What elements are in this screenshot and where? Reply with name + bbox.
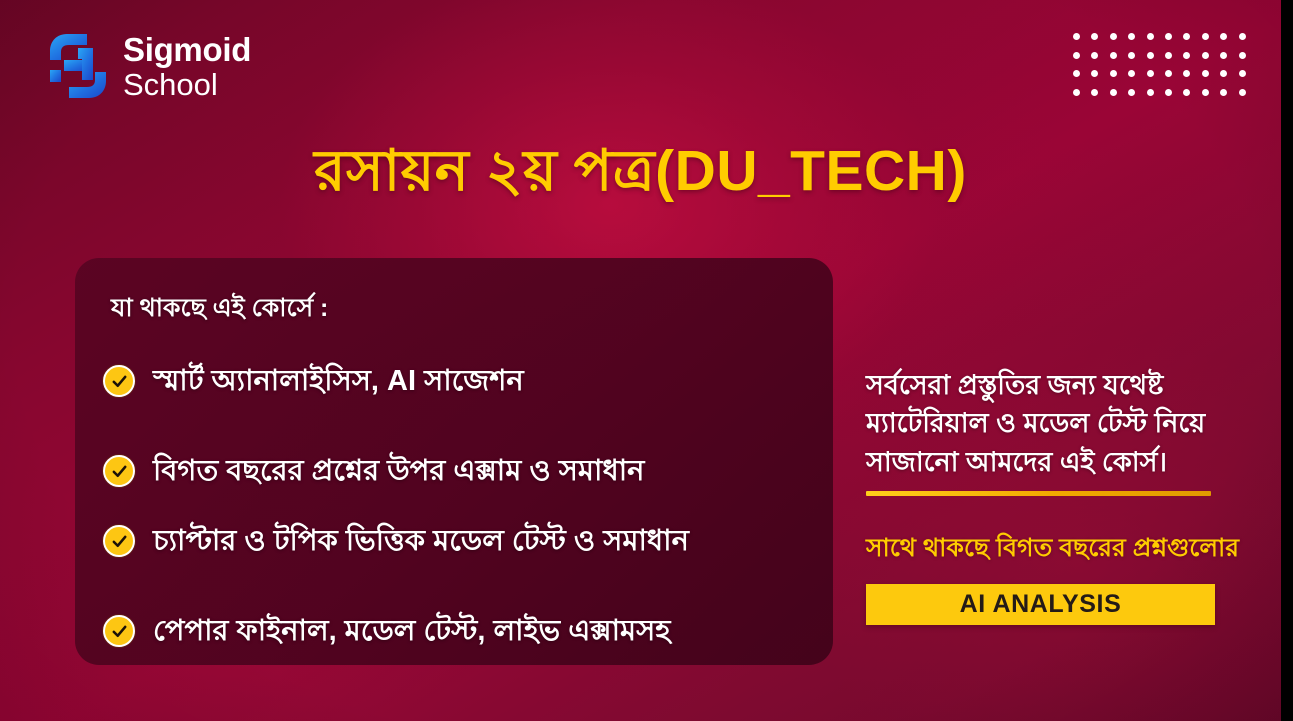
grid-dot: [1073, 89, 1080, 96]
grid-dot: [1073, 70, 1080, 77]
list-item: বিগত বছরের প্রশ্নের উপর এক্সাম ও সমাধান: [103, 443, 805, 499]
grid-dot: [1183, 33, 1190, 40]
grid-dot: [1239, 52, 1246, 59]
grid-dot: [1239, 33, 1246, 40]
grid-dot: [1220, 70, 1227, 77]
grid-dot: [1202, 89, 1209, 96]
banner-canvas: Sigmoid School রসায়ন ২য় পত্র(DU_TECH) …: [0, 0, 1281, 721]
brand-name: Sigmoid School: [123, 33, 251, 100]
feature-card: যা থাকছে এই কোর্সে : স্মার্ট অ্যানালাইসি…: [75, 258, 833, 665]
list-item: স্মার্ট অ্যানালাইসিস, AI সাজেশন: [103, 353, 805, 409]
grid-dot: [1220, 52, 1227, 59]
grid-dot: [1110, 70, 1117, 77]
grid-dot: [1128, 89, 1135, 96]
gold-divider: [866, 491, 1211, 496]
promo-panel: সর্বসেরা প্রস্তুতির জন্য যথেষ্ট ম্যাটেরি…: [866, 366, 1266, 625]
ai-analysis-badge[interactable]: AI ANALYSIS: [866, 584, 1215, 625]
check-icon: [103, 365, 135, 397]
feature-label: চ্যাপ্টার ও টপিক ভিত্তিক মডেল টেস্ট ও সম…: [153, 523, 689, 559]
check-icon: [103, 525, 135, 557]
grid-dot: [1091, 70, 1098, 77]
brand-logo[interactable]: Sigmoid School: [47, 30, 251, 102]
grid-dot: [1128, 70, 1135, 77]
grid-dot: [1220, 33, 1227, 40]
check-icon: [103, 615, 135, 647]
grid-dot: [1202, 33, 1209, 40]
grid-dot: [1220, 89, 1227, 96]
right-edge-strip: [1281, 0, 1293, 721]
grid-dot: [1091, 33, 1098, 40]
promo-paragraph-line3: সাজানো আমদের এই কোর্স।: [866, 443, 1266, 481]
promo-subline: সাথে থাকছে বিগত বছরের প্রশ্নগুলোর: [866, 528, 1266, 571]
feature-label: বিগত বছরের প্রশ্নের উপর এক্সাম ও সমাধান: [153, 453, 644, 489]
feature-label: স্মার্ট অ্যানালাইসিস, AI সাজেশন: [153, 363, 524, 399]
dot-grid-pattern: [1073, 33, 1257, 108]
grid-dot: [1202, 70, 1209, 77]
ai-analysis-label: AI ANALYSIS: [960, 590, 1122, 619]
grid-dot: [1239, 70, 1246, 77]
promo-paragraph-line2: ম্যাটেরিয়াল ও মডেল টেস্ট নিয়ে: [866, 404, 1266, 442]
grid-dot: [1183, 89, 1190, 96]
grid-dot: [1239, 89, 1246, 96]
page-title: রসায়ন ২য় পত্র(DU_TECH): [0, 140, 1281, 203]
grid-dot: [1128, 52, 1135, 59]
brand-name-line1: Sigmoid: [123, 33, 251, 66]
feature-card-heading: যা থাকছে এই কোর্সে :: [111, 288, 805, 331]
grid-dot: [1091, 52, 1098, 59]
grid-dot: [1147, 70, 1154, 77]
promo-paragraph: সর্বসেরা প্রস্তুতির জন্য যথেষ্ট ম্যাটেরি…: [866, 366, 1266, 481]
grid-dot: [1147, 33, 1154, 40]
grid-dot: [1165, 52, 1172, 59]
list-item: চ্যাপ্টার ও টপিক ভিত্তিক মডেল টেস্ট ও সম…: [103, 513, 805, 569]
grid-dot: [1110, 52, 1117, 59]
grid-dot: [1147, 89, 1154, 96]
grid-dot: [1165, 33, 1172, 40]
grid-dot: [1091, 89, 1098, 96]
grid-dot: [1073, 52, 1080, 59]
grid-dot: [1202, 52, 1209, 59]
grid-dot: [1165, 70, 1172, 77]
sigmoid-s-mark-icon: [47, 30, 109, 102]
grid-dot: [1165, 89, 1172, 96]
grid-dot: [1183, 52, 1190, 59]
check-icon: [103, 455, 135, 487]
list-item: পেপার ফাইনাল, মডেল টেস্ট, লাইভ এক্সামসহ: [103, 603, 805, 659]
brand-name-line2: School: [123, 69, 251, 100]
promo-banner: Sigmoid School রসায়ন ২য় পত্র(DU_TECH) …: [0, 0, 1293, 721]
promo-paragraph-line1: সর্বসেরা প্রস্তুতির জন্য যথেষ্ট: [866, 366, 1266, 404]
grid-dot: [1128, 33, 1135, 40]
grid-dot: [1110, 89, 1117, 96]
grid-dot: [1183, 70, 1190, 77]
feature-label: পেপার ফাইনাল, মডেল টেস্ট, লাইভ এক্সামসহ: [153, 613, 671, 649]
feature-list: স্মার্ট অ্যানালাইসিস, AI সাজেশন বিগত বছর…: [103, 353, 805, 659]
grid-dot: [1147, 52, 1154, 59]
grid-dot: [1110, 33, 1117, 40]
grid-dot: [1073, 33, 1080, 40]
